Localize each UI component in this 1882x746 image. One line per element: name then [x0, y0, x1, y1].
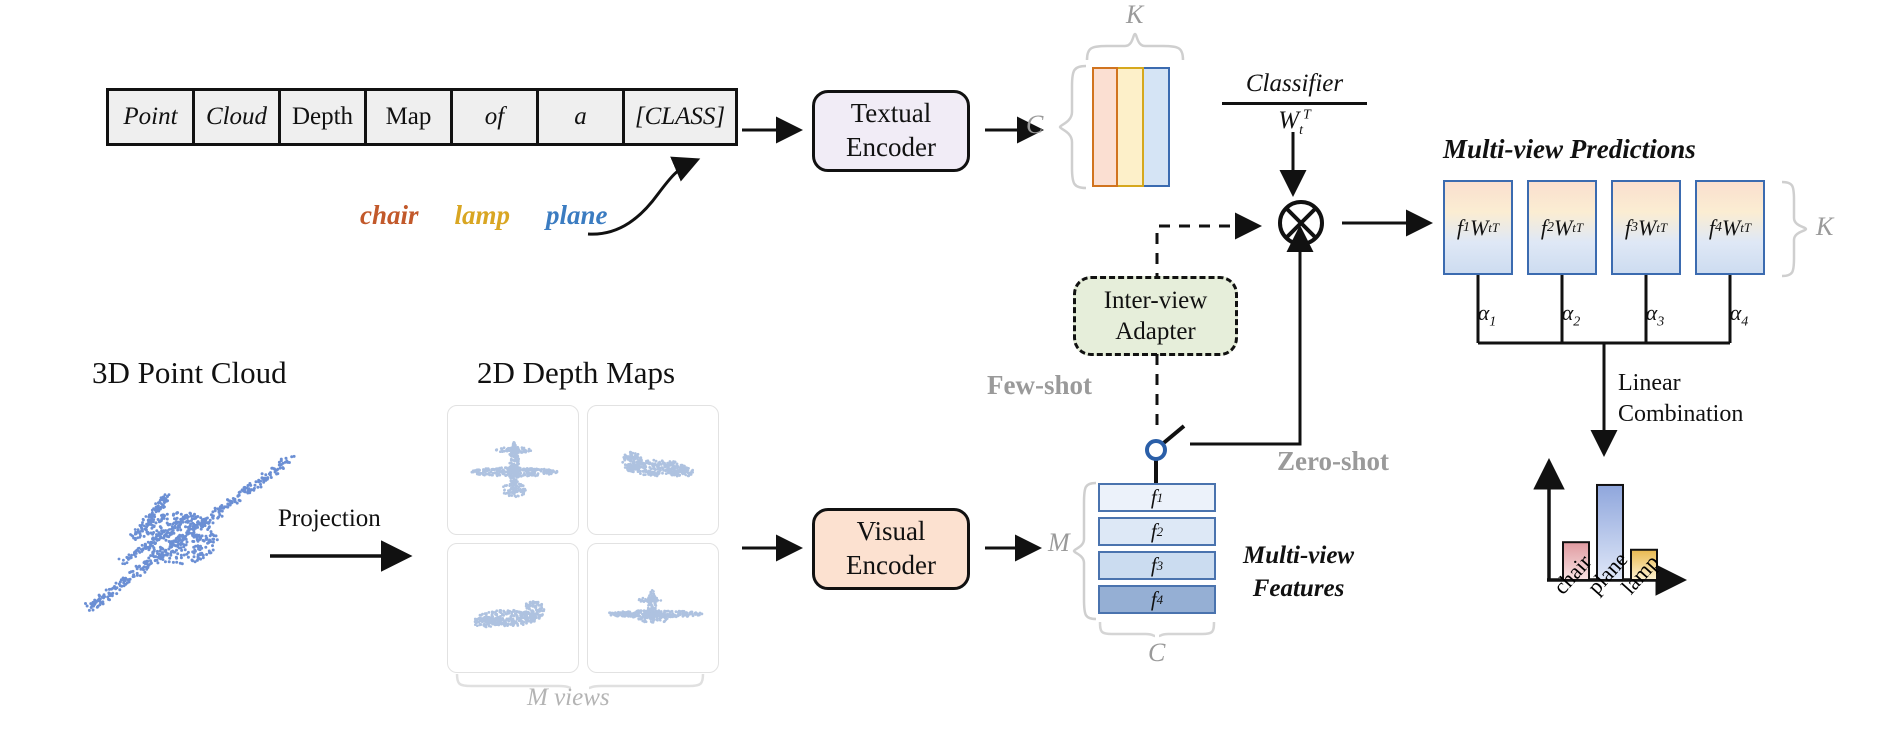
- classifier-column-chair: [1092, 67, 1118, 187]
- depth-view-top-icon: [588, 544, 719, 673]
- depth-map-card-1[interactable]: [447, 405, 579, 535]
- depth-view-rear-side-icon: [448, 544, 579, 673]
- prediction-box-3: f3WtT: [1611, 180, 1681, 275]
- feature-row-1: f1: [1098, 483, 1216, 512]
- prompt-token: of: [453, 91, 539, 143]
- predictions-k-brace: [1780, 180, 1810, 278]
- few-shot-label: Few-shot: [987, 370, 1092, 401]
- prompt-token: a: [539, 91, 625, 143]
- visual-encoder-line1: Visual: [857, 515, 926, 549]
- prediction-box-1: f1WtT: [1443, 180, 1513, 275]
- multiview-feature-stack: f1 f2 f3 f4: [1098, 483, 1216, 614]
- prediction-box-2: f2WtT: [1527, 180, 1597, 275]
- features-c-label: C: [1148, 638, 1165, 668]
- arrow-to-bar-chart: [1593, 408, 1623, 460]
- classifier-fraction: Classifier WtT: [1222, 70, 1367, 139]
- prompt-token-row: Point Cloud Depth Map of a [CLASS]: [106, 88, 738, 146]
- alpha-weight-row: α1 α2 α3 α4: [1452, 300, 1774, 330]
- alpha-4: α4: [1704, 300, 1774, 330]
- point-cloud-title: 3D Point Cloud: [92, 355, 287, 391]
- feature-row-4: f4: [1098, 585, 1216, 614]
- alpha-3: α3: [1620, 300, 1690, 330]
- classifier-column-lamp: [1118, 67, 1144, 187]
- zero-shot-label: Zero-shot: [1277, 446, 1389, 477]
- feature-row-2: f2: [1098, 517, 1216, 546]
- textual-encoder-line1: Textual: [851, 97, 932, 131]
- textual-encoder-line2: Encoder: [846, 131, 936, 165]
- alpha-1: α1: [1452, 300, 1522, 330]
- fraction-bar: [1222, 102, 1367, 105]
- class-word-chair: chair: [360, 200, 419, 231]
- visual-encoder-line2: Encoder: [846, 549, 936, 583]
- adapter-line2: Adapter: [1115, 316, 1196, 347]
- diagram-canvas: Point Cloud Depth Map of a [CLASS] chair…: [0, 0, 1882, 746]
- classifier-k-label: K: [1126, 0, 1143, 30]
- depth-maps-title: 2D Depth Maps: [477, 355, 675, 391]
- prompt-token: Cloud: [195, 91, 281, 143]
- arrow-projection: [270, 545, 420, 569]
- arrow-prompt-to-textual-encoder: [742, 118, 806, 142]
- features-m-label: M: [1048, 528, 1070, 558]
- prompt-token: Map: [367, 91, 453, 143]
- prediction-box-4: f4WtT: [1695, 180, 1765, 275]
- depth-map-card-4[interactable]: [587, 543, 719, 673]
- multiview-predictions-row: f1WtT f2WtT f3WtT f4WtT: [1443, 180, 1765, 275]
- depth-view-front-icon: [448, 406, 579, 535]
- classifier-c-label: C: [1026, 110, 1043, 140]
- depth-map-grid: [447, 405, 719, 673]
- features-c-brace: [1098, 620, 1218, 638]
- prompt-token: Point: [109, 91, 195, 143]
- adapter-line1: Inter-view: [1104, 285, 1208, 316]
- depth-map-card-2[interactable]: [587, 405, 719, 535]
- feature-row-3: f3: [1098, 551, 1216, 580]
- class-word-list: chair lamp plane: [360, 200, 608, 231]
- multiview-predictions-title: Multi-view Predictions: [1443, 134, 1696, 165]
- multiview-features-label: Multi-view Features: [1243, 540, 1354, 605]
- arrow-visual-encoder-to-features: [985, 536, 1047, 560]
- arrow-operator-to-predictions: [1342, 212, 1438, 236]
- prediction-bar-chart: chair plane lamp: [1533, 462, 1703, 642]
- class-curved-arrow-icon: [580, 150, 740, 240]
- classifier-numerator: Classifier: [1222, 70, 1367, 98]
- features-m-brace: [1072, 481, 1098, 621]
- class-word-lamp: lamp: [455, 200, 511, 231]
- arrow-depthmaps-to-visual-encoder: [742, 536, 806, 560]
- m-views-label: M views: [527, 684, 610, 712]
- predictions-k-label: K: [1816, 212, 1833, 242]
- classifier-k-brace: [1085, 28, 1185, 64]
- projection-label: Projection: [278, 505, 381, 533]
- visual-encoder-box[interactable]: Visual Encoder: [812, 508, 970, 590]
- classifier-column-plane: [1144, 67, 1170, 187]
- depth-map-card-3[interactable]: [447, 543, 579, 673]
- textual-encoder-box[interactable]: Textual Encoder: [812, 90, 970, 172]
- depth-view-side-icon: [588, 406, 719, 535]
- inter-view-adapter-box[interactable]: Inter-view Adapter: [1073, 276, 1238, 356]
- prompt-token-class: [CLASS]: [625, 91, 735, 143]
- prompt-token: Depth: [281, 91, 367, 143]
- classifier-c-brace: [1058, 64, 1090, 190]
- classifier-weight-matrix: [1092, 67, 1170, 187]
- alpha-2: α2: [1536, 300, 1606, 330]
- linear-combination-label: Linear Combination: [1618, 368, 1743, 430]
